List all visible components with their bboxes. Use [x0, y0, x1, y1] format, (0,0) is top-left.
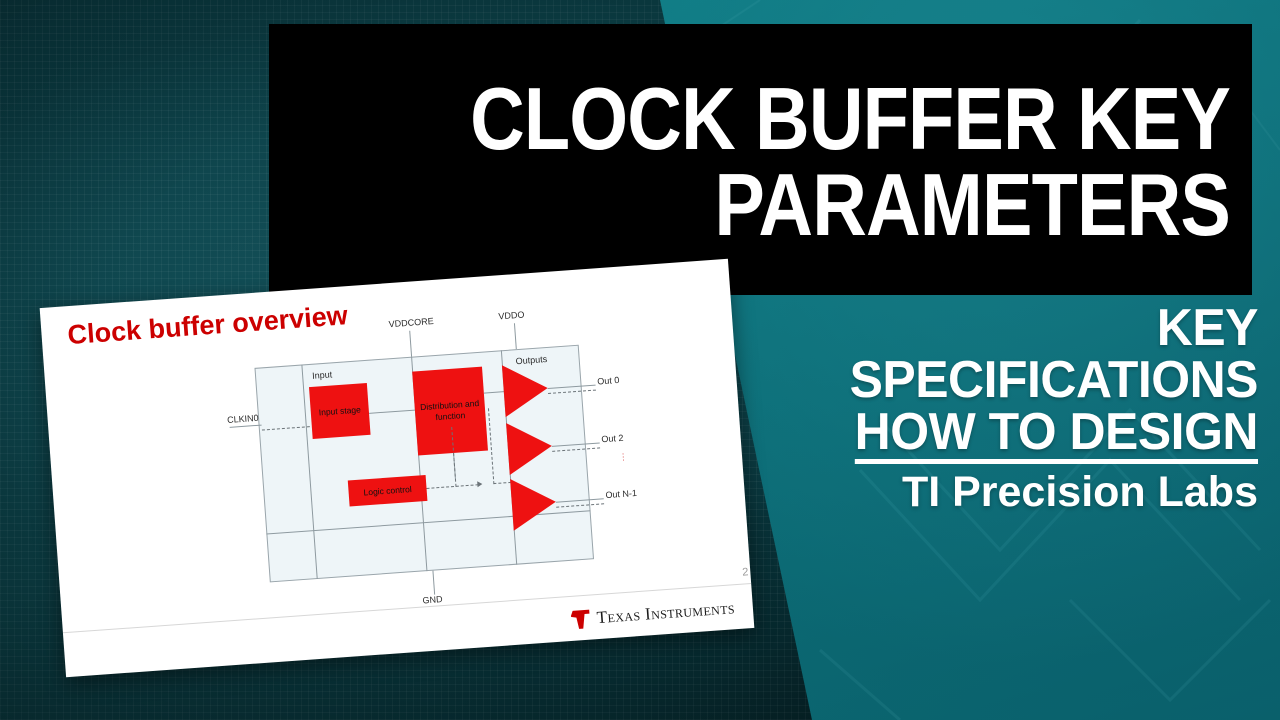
wire-vddcore: [409, 331, 412, 357]
headline-specifications: SPECIFICATIONS: [759, 354, 1258, 406]
distribution-block: Distribution and function: [412, 367, 488, 456]
label-clkin0: CLKIN0: [227, 413, 259, 425]
wire-clkin0: [230, 425, 262, 428]
ellipsis-vertical-icon: ⋮: [619, 454, 628, 459]
headline-key: KEY: [759, 302, 1258, 354]
texas-instruments-mark-icon: [570, 609, 590, 629]
label-input-section: Input: [312, 369, 333, 380]
headline-how-to-design-wrap: HOW TO DESIGN: [759, 406, 1258, 464]
arrow-logic-icon: [477, 481, 482, 487]
slide-canvas: CLOCK BUFFER KEY PARAMETERS KEY SPECIFIC…: [0, 0, 1280, 720]
label-vddcore: VDDCORE: [388, 316, 434, 329]
output-buffer-2-icon: [506, 420, 554, 475]
label-out-2: Out 2: [601, 433, 624, 445]
block-diagram: VDDCORE VDDO Input Outputs CLKIN0 Input …: [237, 296, 737, 620]
wire-vddo: [514, 323, 517, 349]
ti-logo: Texas Instruments: [570, 598, 735, 630]
label-gnd: GND: [422, 594, 443, 605]
headline-how-to-design: HOW TO DESIGN: [855, 406, 1258, 464]
wire-gnd: [432, 571, 435, 595]
slide-card: Clock buffer overview VDDCORE VDDO Input…: [40, 259, 755, 677]
title-line-2: PARAMETERS: [428, 162, 1230, 247]
output-buffer-n-icon: [510, 476, 558, 531]
label-out-n-1: Out N-1: [605, 488, 637, 500]
label-out-0: Out 0: [597, 375, 620, 387]
label-vddo: VDDO: [498, 310, 525, 322]
title-plate: CLOCK BUFFER KEY PARAMETERS: [269, 24, 1252, 295]
output-buffer-0-icon: [502, 362, 550, 417]
logic-control-block: Logic control: [348, 475, 428, 507]
slide-number: 2: [742, 566, 749, 578]
headline-stack: KEY SPECIFICATIONS HOW TO DESIGN TI Prec…: [738, 302, 1258, 516]
title-line-1: CLOCK BUFFER KEY: [428, 76, 1230, 161]
ti-wordmark: Texas Instruments: [596, 598, 736, 628]
headline-subtitle: TI Precision Labs: [738, 468, 1258, 516]
input-stage-block: Input stage: [309, 383, 371, 439]
